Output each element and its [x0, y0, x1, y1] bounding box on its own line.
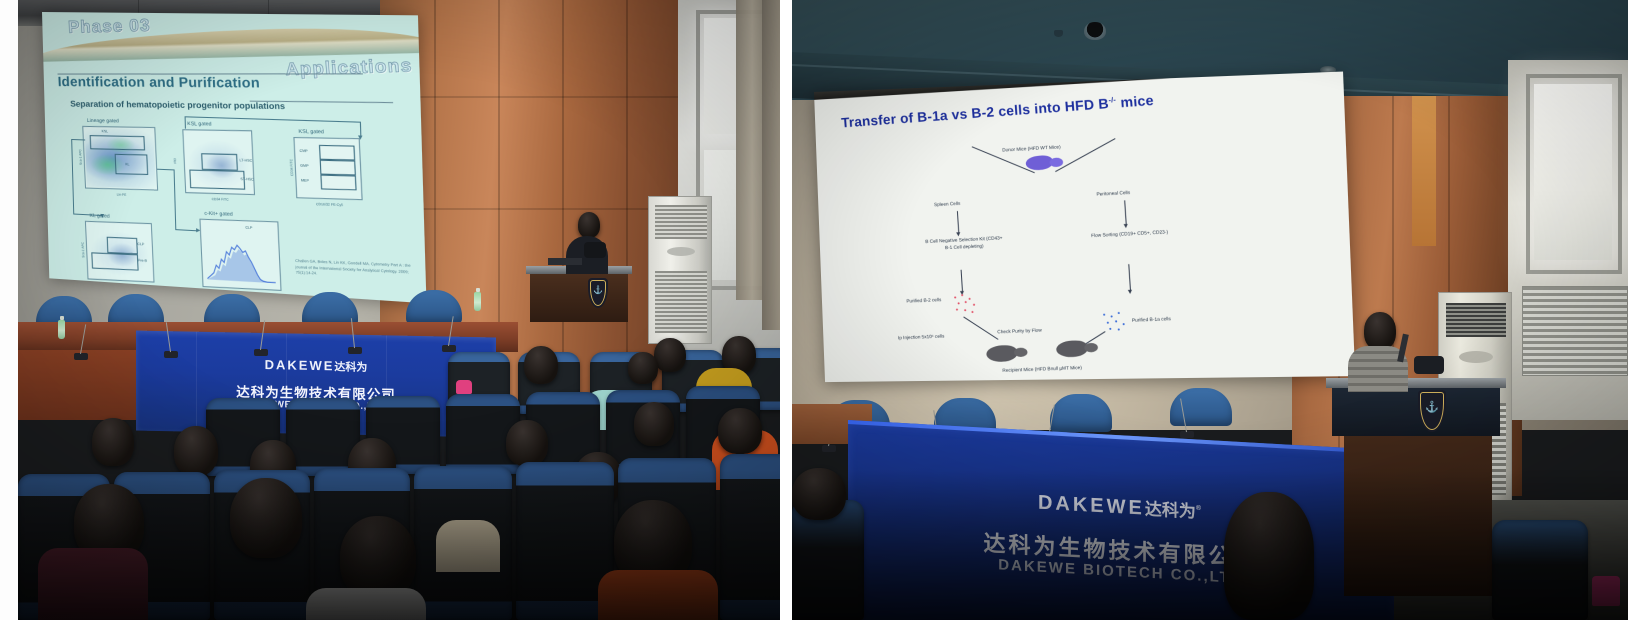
flow-node-check-purity: Check Purity by Flow [997, 327, 1042, 336]
mouse-icon [1056, 340, 1088, 358]
cell-dots-b1a [1102, 311, 1135, 335]
panel-title: c-Kit+ gated [204, 211, 233, 218]
window-frame [1526, 74, 1622, 274]
gate-label: CMP [299, 149, 307, 153]
gate-label: KL [125, 162, 129, 166]
flow-arrow [957, 211, 959, 233]
audience-head [230, 478, 302, 558]
gate-box [319, 145, 355, 161]
panel-yaxis: CD34 FITC [289, 159, 294, 176]
panel-title: KSL gated [187, 121, 212, 128]
flow-connector [157, 169, 174, 171]
gate-label: LT-HSC [239, 158, 252, 162]
gate-label: ST-HSC [240, 177, 254, 182]
panel-title: KSL gated [298, 129, 324, 136]
flow-panel-ksl-2: KSL gated CMP GMP MEP CD34 FITC CD16/32 … [293, 137, 362, 200]
flow-arrowhead [1127, 290, 1131, 294]
flow-node-recipient-mice: Recipient Mice (HFD Bnull µMT Mice) [995, 365, 1088, 375]
head-table-chair [1050, 394, 1112, 432]
flow-connector [71, 139, 85, 141]
mouse-icon [986, 345, 1018, 362]
water-bottle [474, 292, 481, 311]
banner-logo-cn: 达科为 [1145, 500, 1196, 522]
flow-connector [71, 139, 74, 214]
gate-box [115, 154, 149, 175]
gate-label: Pre-B [138, 258, 147, 262]
audience-torso-orange [598, 570, 718, 620]
panel-yaxis: Flt3 [173, 158, 177, 164]
audience-head [628, 352, 658, 384]
banner-logo-latin: DAKEWE [1038, 492, 1145, 520]
photo-gutter [780, 0, 792, 620]
banner-logo-latin: DAKEWE [265, 357, 335, 373]
curtain-edge [762, 0, 780, 330]
panel-xaxis: CD34 FITC [186, 196, 254, 202]
gate-box [320, 160, 356, 176]
histogram-trace [206, 242, 276, 284]
banner-logo-cn: 达科为 [334, 361, 367, 374]
flow-arrow [963, 316, 998, 339]
gate-label: MEP [301, 178, 309, 182]
flow-panel-lineage: Lineage gated KSL KL Sca-1 APC Lin-PE [82, 126, 158, 191]
seat [1492, 520, 1588, 620]
slide-citation: Challen GA, Boles N, Lin KK, Goodell MA.… [295, 259, 417, 282]
flow-arrow [1128, 264, 1131, 291]
projection-screen-right: Transfer of B-1a vs B-2 cells into HFD B… [814, 72, 1355, 383]
flow-panel-ksl-1: KSL gated LT-HSC ST-HSC Flt3 CD34 FITC [182, 129, 255, 195]
audience-head [524, 346, 558, 384]
left-white-margin [0, 0, 18, 620]
flow-connector [174, 169, 177, 229]
gate-box [320, 175, 356, 191]
flow-connector [360, 122, 362, 137]
gate-box [107, 237, 138, 255]
flow-node-flow-sorting: Flow Sorting (CD19+ CD5+, CD23-) [1091, 229, 1169, 240]
gate-box [91, 252, 138, 270]
flow-arrowhead [956, 232, 960, 236]
slide-heading: Identification and Purification [57, 74, 260, 91]
banner-logo-registered: ® [1196, 505, 1204, 512]
pink-bag [1592, 576, 1620, 606]
right-photo: Transfer of B-1a vs B-2 cells into HFD B… [792, 0, 1628, 620]
gate-box [201, 153, 238, 170]
panel-title: Lineage gated [87, 118, 119, 125]
audience-head [1224, 492, 1314, 620]
pink-item [456, 380, 472, 394]
panel-xaxis: CD16/32 PE-Cy5 [298, 201, 362, 207]
gate-box [90, 135, 145, 150]
audience-head [718, 408, 762, 454]
dome-camera-icon [1084, 22, 1106, 40]
audience-torso-maroon [38, 548, 148, 620]
mouse-icon [1025, 155, 1053, 171]
flow-panel-kl: KL gated CLP Pre-B Sca-1 APC CD41 [85, 221, 155, 283]
left-photo: Phase 03 Applications Identification and… [18, 0, 780, 620]
audience-head [174, 426, 218, 476]
orange-wall-accent [1412, 96, 1436, 246]
flow-connector [185, 116, 186, 128]
gate-label: GMP [300, 164, 309, 168]
panel-xaxis: Lin-PE [86, 192, 157, 198]
gate-label: KSL [101, 129, 108, 133]
seat [720, 454, 780, 620]
screenshot-stage: Phase 03 Applications Identification and… [0, 0, 1628, 620]
projection-screen-left: Phase 03 Applications Identification and… [42, 12, 426, 303]
head-table-chair [1170, 388, 1232, 426]
cell-dots-b2 [952, 293, 984, 317]
flow-panel-histogram: c-Kit+ gated CLP IL-7Ra PE-Cy7 [199, 219, 281, 291]
flow-node-spleen: Spleen Cells [934, 201, 961, 209]
audience-head [792, 468, 846, 520]
flow-arrowhead [1123, 224, 1127, 228]
slide-phase-label: Phase 03 [68, 16, 152, 38]
flow-node-selection-kit: B Cell Negative Selection Kit (CD43+ B-1… [924, 235, 1004, 252]
slide-flowchart: Donor Mice (HFD WT Mice) Spleen Cells Pe… [814, 72, 1355, 383]
flow-arrow [1124, 200, 1127, 225]
gate-label: CLP [137, 242, 144, 246]
flow-arrow [1055, 138, 1115, 172]
podium-right [1332, 386, 1500, 436]
laptop [1414, 356, 1444, 374]
speaker-head [578, 212, 600, 238]
radiator [1522, 286, 1628, 376]
flow-node-peritoneal: Peritoneal Cells [1096, 190, 1130, 199]
flow-node-purified-b1a: Purified B-1a cells [1132, 316, 1171, 324]
panel-yaxis: Sca-1 APC [78, 149, 83, 165]
speaker-head [1364, 312, 1396, 350]
panel-title: KL gated [90, 213, 110, 220]
slide-subheading: Separation of hematopoietic progenitor p… [70, 99, 285, 112]
air-conditioner [648, 196, 712, 344]
audience-head [654, 338, 686, 372]
gate-box [189, 170, 245, 190]
flow-node-donor: Donor Mice (HFD WT Mice) [1002, 144, 1061, 154]
audience-head [506, 420, 548, 466]
smoke-detector-icon [1054, 30, 1063, 37]
slide-1: Phase 03 Applications Identification and… [42, 12, 426, 303]
podium-left [530, 272, 628, 322]
audience-hands [436, 520, 500, 572]
audience-head [92, 418, 134, 466]
flow-node-ip-injection: Ip Injection 5x10⁶ cells [892, 333, 951, 342]
audience-head [634, 402, 674, 446]
audience-collar [306, 588, 426, 620]
panel-yaxis: Sca-1 APC [81, 242, 86, 258]
laptop [584, 242, 606, 258]
water-bottle [58, 320, 65, 339]
flow-connector [175, 229, 198, 231]
banner-logo: DAKEWE达科为 [136, 355, 496, 378]
slide-corner-label: Applications [285, 55, 414, 80]
flow-node-purified-b2: Purified B-2 cells [897, 297, 950, 306]
podium-laptop-base [548, 258, 582, 265]
gate-label: CLP [245, 225, 252, 229]
flow-arrow [961, 270, 963, 292]
